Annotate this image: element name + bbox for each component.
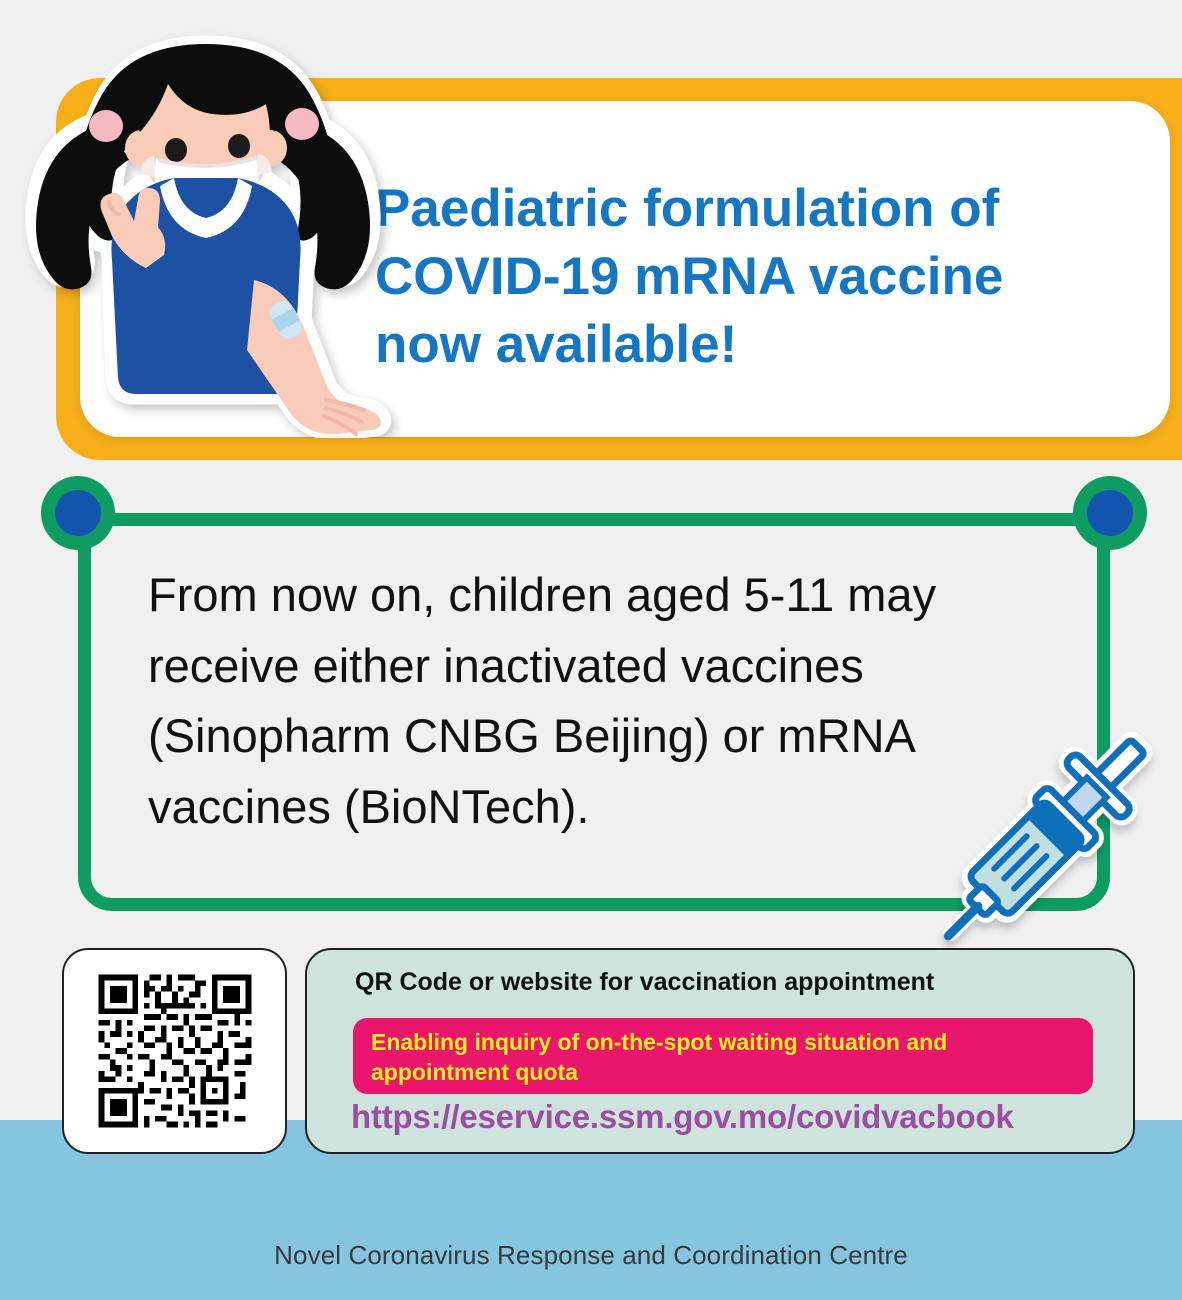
title-line-2: COVID-19 mRNA vaccine [375,243,1135,311]
syringe-icon [935,712,1182,977]
qr-code-card[interactable] [62,948,287,1154]
body-line-3: (Sinopharm CNBG Beijing) or mRNA [148,701,1058,772]
body-message: From now on, children aged 5-11 may rece… [148,560,1058,842]
appointment-url[interactable]: https://eservice.ssm.gov.mo/covidvacbook [351,1098,1111,1136]
appointment-notice-text: Enabling inquiry of on-the-spot waiting … [371,1027,1075,1088]
title-line-1: Paediatric formulation of [375,175,1135,243]
body-line-1: From now on, children aged 5-11 may [148,560,1058,631]
notice-line-1: Enabling inquiry of on-the-spot waiting … [371,1027,1075,1057]
page-title: Paediatric formulation of COVID-19 mRNA … [375,175,1135,378]
appointment-notice-banner: Enabling inquiry of on-the-spot waiting … [353,1018,1093,1094]
appointment-heading: QR Code or website for vaccination appoi… [355,968,1095,997]
poster-root: Paediatric formulation of COVID-19 mRNA … [0,0,1182,1300]
notice-line-2: appointment quota [371,1057,1075,1087]
footer-organisation: Novel Coronavirus Response and Coordinat… [0,1240,1182,1271]
body-line-2: receive either inactivated vaccines [148,631,1058,702]
frame-knob-right-icon [1073,476,1147,550]
qr-code-icon[interactable] [85,969,265,1133]
frame-knob-left-icon [41,476,115,550]
title-line-3: now available! [375,311,1135,379]
girl-illustration [6,8,406,438]
appointment-panel: QR Code or website for vaccination appoi… [305,948,1135,1154]
body-line-4: vaccines (BioNTech). [148,772,1058,843]
